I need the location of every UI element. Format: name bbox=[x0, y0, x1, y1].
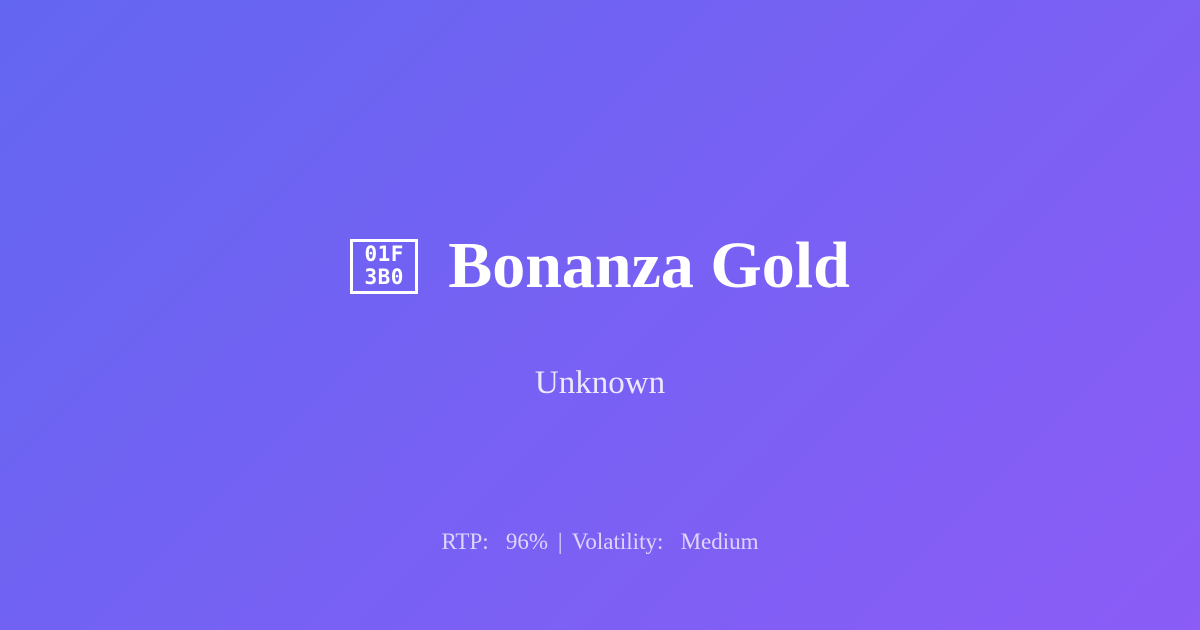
volatility-value: Medium bbox=[681, 529, 759, 554]
tofu-codepoint-bottom: 3B0 bbox=[364, 266, 403, 289]
game-stats-line: RTP: 96% | Volatility: Medium bbox=[0, 528, 1200, 556]
tofu-codepoint-top: 01F bbox=[364, 243, 403, 266]
volatility-label: Volatility: bbox=[572, 529, 664, 554]
slot-machine-emoji-icon: 01F 3B0 bbox=[350, 239, 418, 294]
og-share-card: 01F 3B0 Bonanza Gold Unknown RTP: 96% | … bbox=[0, 0, 1200, 630]
title-row: 01F 3B0 Bonanza Gold bbox=[350, 233, 850, 299]
page-title: Bonanza Gold bbox=[448, 233, 850, 299]
hero-block: 01F 3B0 Bonanza Gold Unknown bbox=[0, 233, 1200, 400]
stats-separator: | bbox=[554, 529, 567, 554]
rtp-label: RTP: bbox=[441, 529, 488, 554]
game-provider-subtitle: Unknown bbox=[535, 299, 665, 400]
rtp-value: 96% bbox=[506, 529, 548, 554]
